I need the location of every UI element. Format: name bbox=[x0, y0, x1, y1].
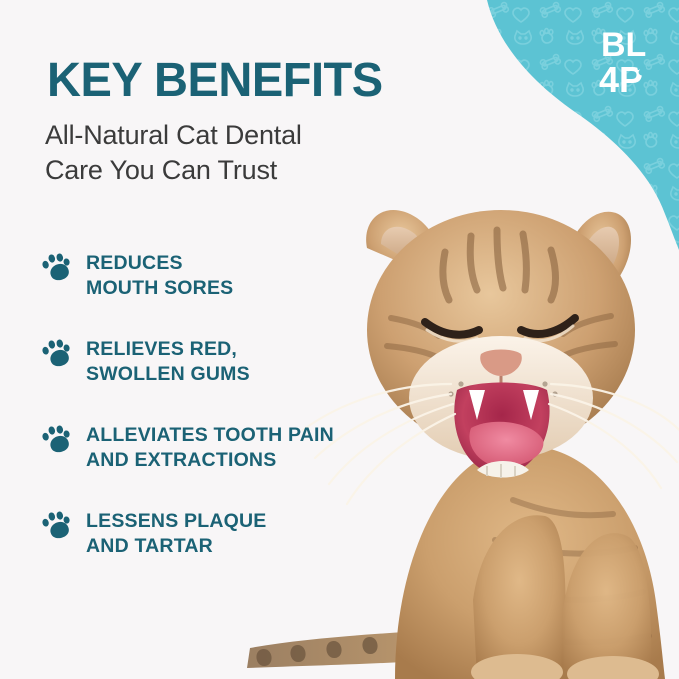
benefit-item-relieves-swollen-gums: RELIEVES RED, SWOLLEN GUMS bbox=[42, 336, 372, 390]
benefit-item-reduces-mouth-sores: REDUCES MOUTH SORES bbox=[42, 250, 372, 304]
cat-tail bbox=[247, 629, 482, 668]
product-benefits-infographic: BL 4P bbox=[0, 0, 679, 679]
benefit-item-alleviates-tooth-pain: ALLEVIATES TOOTH PAIN AND EXTRACTIONS bbox=[42, 422, 372, 476]
benefit-label: REDUCES MOUTH SORES bbox=[86, 250, 233, 301]
paw-icon bbox=[42, 338, 72, 368]
page-subtitle: All-Natural Cat Dental Care You Can Trus… bbox=[45, 118, 302, 187]
page-title: KEY BENEFITS bbox=[47, 57, 383, 105]
benefit-label: LESSENS PLAQUE AND TARTAR bbox=[86, 508, 267, 559]
paw-icon bbox=[42, 424, 72, 454]
cat-body bbox=[395, 446, 665, 679]
benefit-label: RELIEVES RED, SWOLLEN GUMS bbox=[86, 336, 250, 387]
cat-open-mouth bbox=[454, 383, 549, 479]
benefits-list: REDUCES MOUTH SORES RELIEVES RED, SWOLLE… bbox=[42, 250, 372, 562]
paw-icon bbox=[42, 252, 72, 282]
paw-icon bbox=[42, 510, 72, 540]
brand-logo[interactable]: BL 4P bbox=[599, 22, 661, 100]
cat-eyes bbox=[425, 318, 575, 335]
logo-text-4p: 4P bbox=[599, 59, 643, 100]
benefit-item-lessens-plaque-and-tartar: LESSENS PLAQUE AND TARTAR bbox=[42, 508, 372, 562]
benefit-label: ALLEVIATES TOOTH PAIN AND EXTRACTIONS bbox=[86, 422, 334, 473]
